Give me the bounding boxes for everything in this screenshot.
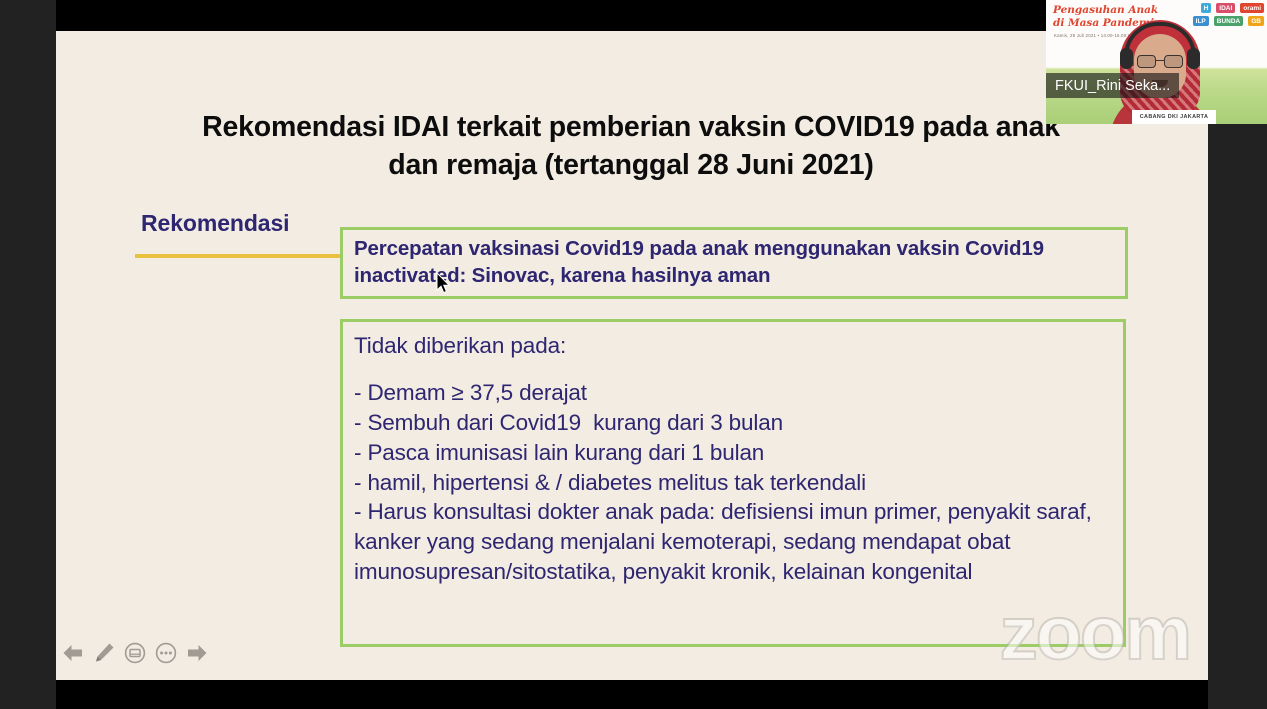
slide-title-line-1: Rekomendasi IDAI terkait pemberian vaksi… [116,109,1146,147]
letterbox-top [56,0,1208,31]
participant-name: FKUI_Rini Seka... [1055,78,1170,94]
orami-logo: orami [1240,3,1264,13]
pen-icon[interactable] [93,642,115,664]
letterbox-bottom [56,680,1208,709]
letterbox-left [0,0,56,709]
headphone-earcup-left [1120,48,1133,69]
sponsor-logo-2: GB [1248,16,1264,26]
row-label-rekomendasi: Rekomendasi [141,210,289,237]
glasses-lens-right [1164,55,1183,68]
list-item: - Pasca imunisasi lain kurang dari 1 bul… [354,438,1113,468]
bunda-logo: BUNDA [1214,16,1243,26]
glasses-bridge [1156,60,1164,61]
glasses-lens-left [1137,55,1156,68]
participant-name-bar: FKUI_Rini Seka... [1046,73,1179,98]
virtual-background-footer-chip: CABANG DKI JAKARTA [1132,110,1216,124]
list-item: - Harus konsultasi dokter anak pada: def… [354,497,1113,587]
slide-title: Rekomendasi IDAI terkait pemberian vaksi… [116,109,1146,184]
slide-navigation-toolbar[interactable] [62,642,208,664]
shared-slide: Rekomendasi IDAI terkait pemberian vaksi… [56,31,1208,680]
slide-title-line-2: dan remaja (tertanggal 28 Juni 2021) [116,147,1146,185]
zoom-screen-share-window: Rekomendasi IDAI terkait pemberian vaksi… [0,0,1267,709]
gold-divider-rule [135,254,341,258]
slide-frame-icon[interactable] [124,642,146,664]
idai-logo: IDAI [1216,3,1235,13]
glasses-icon [1136,55,1184,68]
participant-video-tile[interactable]: Pengasuhan Anak di Masa Pandemi Kamis, 2… [1046,0,1267,124]
list-item: - Sembuh dari Covid19 kurang dari 3 bula… [354,408,1113,438]
logo-row-primary: H IDAI orami [1201,3,1264,13]
participant-webcam-image [1108,18,1212,124]
hmsi-logo: H [1201,3,1212,13]
recommendation-text: Percepatan vaksinasi Covid19 pada anak m… [354,236,1115,289]
previous-arrow-icon[interactable] [62,642,84,664]
contraindications-list: - Demam ≥ 37,5 derajat - Sembuh dari Cov… [354,378,1113,587]
zoom-watermark: zoom [1000,596,1190,672]
list-item: - Demam ≥ 37,5 derajat [354,378,1113,408]
contraindications-heading: Tidak diberikan pada: [354,332,1113,361]
headphones-band [1124,22,1196,56]
vbg-title-line-1: Pengasuhan Anak [1053,4,1173,17]
next-arrow-icon[interactable] [186,642,208,664]
list-item: - hamil, hipertensi & / diabetes melitus… [354,468,1113,498]
more-options-icon[interactable] [155,642,177,664]
recommendation-box: Percepatan vaksinasi Covid19 pada anak m… [340,227,1128,299]
headphone-earcup-right [1187,48,1200,69]
